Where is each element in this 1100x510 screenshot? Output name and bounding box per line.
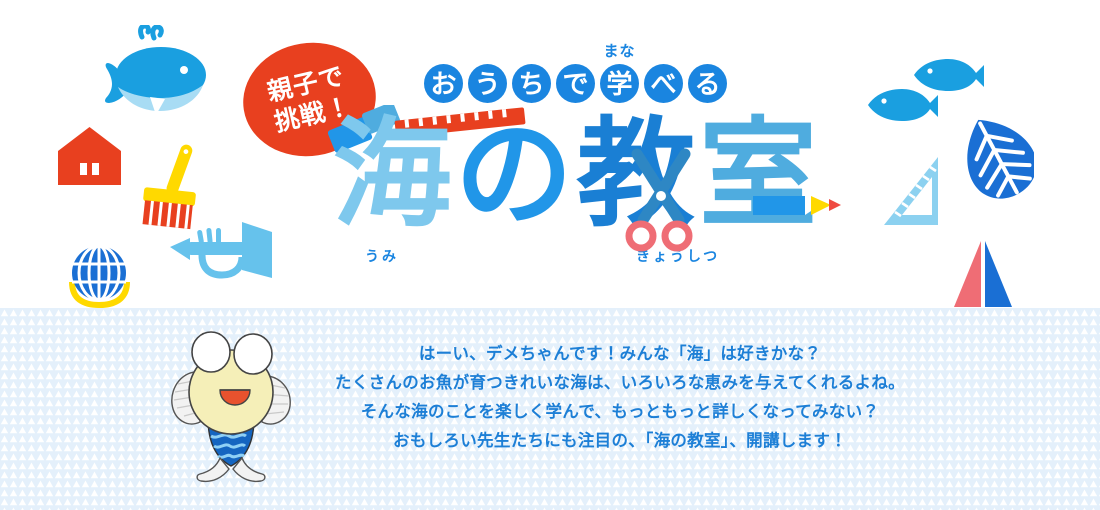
message-line-2: たくさんのお魚が育つきれいな海は、いろいろな恵みを与えてくれるよね。 — [310, 369, 930, 398]
pencil-icon — [753, 186, 843, 226]
subtitle-char: べ — [644, 64, 683, 103]
subtitle-char-text: う — [474, 71, 500, 97]
subtitle-char-text: べ — [650, 71, 676, 97]
subtitle-char-text: お — [430, 71, 456, 97]
whale-icon — [88, 25, 213, 120]
subtitle-furigana: まな — [603, 44, 635, 59]
message-line-4: おもしろい先生たちにも注目の、「海の教室」、開講します！ — [310, 427, 930, 456]
sailboat-icon — [940, 235, 1025, 308]
fish-icon — [866, 88, 938, 122]
subtitle-char-text: 学 — [606, 71, 632, 97]
page-root: 親子で 挑戦！ お う ち で まな 学 べ る — [0, 0, 1100, 510]
subtitle-char-text: ち — [518, 71, 544, 97]
main-title: 海の教室 うみ きょうしつ — [333, 110, 833, 265]
subtitle-char: る — [688, 64, 727, 103]
ruler-icon — [880, 155, 942, 260]
house-icon — [58, 127, 121, 185]
subtitle-char-text: る — [694, 71, 720, 97]
hero-section: 親子で 挑戦！ お う ち で まな 学 べ る — [0, 0, 1100, 308]
globe-icon — [63, 240, 135, 308]
message-line-1: はーい、デメちゃんです！みんな「海」は好きかな？ — [310, 340, 930, 369]
subtitle-char-text: で — [562, 71, 588, 97]
title-char-no: の — [455, 109, 577, 241]
title-furigana-umi: うみ — [365, 246, 399, 266]
scissors-icon — [621, 148, 701, 258]
trumpet-icon — [168, 220, 273, 280]
title-char-umi: 海 — [333, 109, 455, 241]
mascot-demechan — [158, 330, 298, 485]
leaf-icon — [962, 113, 1034, 201]
fish-icon — [912, 58, 984, 92]
subtitle-char: で — [556, 64, 595, 103]
subtitle-char: まな 学 — [600, 64, 639, 103]
message-text: はーい、デメちゃんです！みんな「海」は好きかな？ たくさんのお魚が育つきれいな海… — [310, 340, 930, 456]
message-line-3: そんな海のことを楽しく学んで、もっともっと詳しくなってみない？ — [310, 398, 930, 427]
